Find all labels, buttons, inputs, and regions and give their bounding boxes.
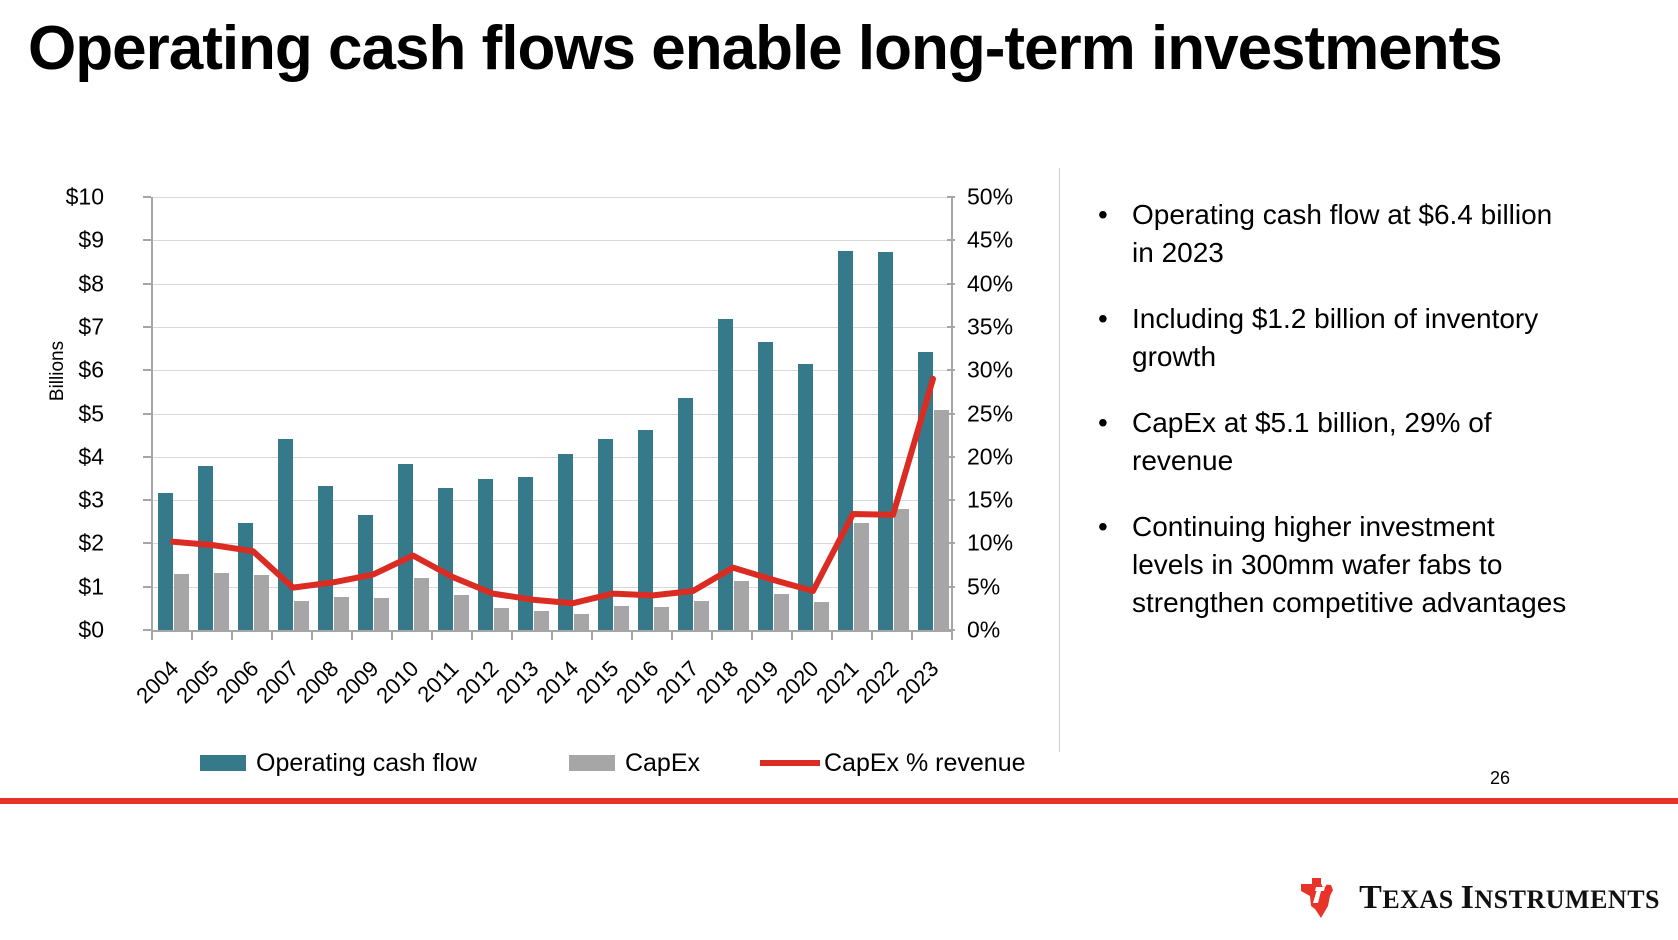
- bar-capex: [574, 614, 589, 630]
- x-axis-tick: [271, 632, 273, 640]
- list-item: •Operating cash flow at $6.4 billion in …: [1098, 196, 1568, 272]
- bar-capex: [334, 597, 349, 630]
- bullet-dot-icon: •: [1098, 508, 1132, 622]
- y-axis-label: $10: [66, 186, 104, 209]
- y-axis-tick: [143, 456, 151, 458]
- bar-operating-cash-flow: [438, 488, 453, 630]
- bar-capex: [534, 611, 549, 630]
- bar-capex: [254, 575, 269, 630]
- y2-axis-label: 10%: [967, 532, 1013, 555]
- bullet-text: Continuing higher investment levels in 3…: [1132, 508, 1568, 622]
- bullet-text: Operating cash flow at $6.4 billion in 2…: [1132, 196, 1568, 272]
- bar-capex: [894, 509, 909, 630]
- y2-axis-line: [951, 197, 953, 632]
- bar-operating-cash-flow: [798, 364, 813, 630]
- bar-capex: [454, 595, 469, 631]
- bar-capex: [854, 523, 869, 630]
- bullet-text: Including $1.2 billion of inventory grow…: [1132, 300, 1568, 376]
- ti-wordmark: TEXAS INSTRUMENTS: [1359, 879, 1660, 917]
- bar-capex: [654, 607, 669, 630]
- gridline: [153, 327, 953, 328]
- bar-capex: [614, 606, 629, 630]
- bar-capex: [814, 602, 829, 630]
- texas-state-icon: [1297, 876, 1343, 920]
- y-axis-label: $7: [78, 315, 104, 338]
- x-axis-tick: [591, 632, 593, 640]
- x-axis-tick: [311, 632, 313, 640]
- y2-axis-label: 20%: [967, 445, 1013, 468]
- y-axis-label: $8: [78, 272, 104, 295]
- bar-operating-cash-flow: [238, 523, 253, 630]
- bar-operating-cash-flow: [918, 352, 933, 630]
- y-axis-title: Billions: [47, 301, 69, 441]
- gridline: [153, 284, 953, 285]
- list-item: •Continuing higher investment levels in …: [1098, 508, 1568, 622]
- x-axis-tick: [351, 632, 353, 640]
- y-axis-tick: [143, 326, 151, 328]
- gridline: [153, 543, 953, 544]
- bar-operating-cash-flow: [678, 398, 693, 630]
- chart-plot-area: [151, 197, 953, 632]
- legend-swatch-capex-pct-revenue-icon: [760, 760, 820, 766]
- list-item: •Including $1.2 billion of inventory gro…: [1098, 300, 1568, 376]
- x-axis-tick: [951, 632, 953, 640]
- bullet-text: CapEx at $5.1 billion, 29% of revenue: [1132, 404, 1568, 480]
- y-axis-label: $1: [78, 575, 104, 598]
- bar-capex: [294, 601, 309, 630]
- x-axis-tick: [151, 632, 153, 640]
- legend-label: CapEx: [625, 749, 700, 778]
- x-axis-tick: [391, 632, 393, 640]
- chart-container: Billions $00%$15%$210%$315%$420%$525%$63…: [0, 160, 1060, 780]
- x-axis-tick: [911, 632, 913, 640]
- x-axis-tick: [751, 632, 753, 640]
- legend-item[interactable]: Operating cash flow: [200, 749, 477, 778]
- bar-capex: [934, 410, 949, 630]
- bar-capex: [214, 573, 229, 630]
- bullet-dot-icon: •: [1098, 404, 1132, 480]
- y-axis-label: $6: [78, 359, 104, 382]
- legend-item[interactable]: CapEx % revenue: [760, 749, 1026, 778]
- gridline: [153, 240, 953, 241]
- y-axis-label: $4: [78, 445, 104, 468]
- y2-axis-label: 30%: [967, 359, 1013, 382]
- list-item: •CapEx at $5.1 billion, 29% of revenue: [1098, 404, 1568, 480]
- bullet-dot-icon: •: [1098, 300, 1132, 376]
- gridline: [153, 370, 953, 371]
- y-axis-tick: [143, 542, 151, 544]
- x-axis-tick: [471, 632, 473, 640]
- y2-axis-label: 45%: [967, 229, 1013, 252]
- gridline: [153, 500, 953, 501]
- bar-operating-cash-flow: [878, 252, 893, 630]
- y-axis-tick: [143, 413, 151, 415]
- bar-operating-cash-flow: [758, 342, 773, 630]
- legend-item[interactable]: CapEx: [569, 749, 700, 778]
- y-axis-label: $3: [78, 489, 104, 512]
- y2-axis-label: 5%: [967, 575, 1000, 598]
- x-axis-tick: [551, 632, 553, 640]
- y2-axis-label: 15%: [967, 489, 1013, 512]
- y2-axis-label: 0%: [967, 619, 1000, 642]
- bullet-dot-icon: •: [1098, 196, 1132, 272]
- bar-operating-cash-flow: [278, 439, 293, 630]
- gridline: [153, 587, 953, 588]
- wordmark-part: T: [1359, 879, 1382, 916]
- bar-operating-cash-flow: [478, 479, 493, 630]
- bar-capex: [414, 578, 429, 630]
- bar-operating-cash-flow: [518, 477, 533, 630]
- legend-label: Operating cash flow: [256, 749, 477, 778]
- y2-axis-label: 25%: [967, 402, 1013, 425]
- x-axis-tick: [231, 632, 233, 640]
- bar-capex: [374, 598, 389, 630]
- bar-capex: [734, 581, 749, 630]
- bar-operating-cash-flow: [158, 493, 173, 630]
- y-axis-label: $2: [78, 532, 104, 555]
- gridline: [153, 197, 953, 198]
- x-axis-tick: [791, 632, 793, 640]
- x-axis-tick: [831, 632, 833, 640]
- bar-operating-cash-flow: [398, 464, 413, 630]
- y-axis-label: $5: [78, 402, 104, 425]
- y-axis-tick: [143, 239, 151, 241]
- page-number: 26: [1490, 768, 1510, 789]
- footer-rule: [0, 798, 1678, 804]
- x-axis-tick: [191, 632, 193, 640]
- y-axis-tick: [143, 283, 151, 285]
- y-axis-label: $0: [78, 619, 104, 642]
- x-axis-tick: [671, 632, 673, 640]
- gridline: [153, 414, 953, 415]
- legend-swatch-capex-icon: [569, 755, 615, 771]
- y-axis-tick: [143, 629, 151, 631]
- x-axis-tick: [711, 632, 713, 640]
- bar-operating-cash-flow: [358, 515, 373, 630]
- vertical-divider: [1059, 168, 1060, 752]
- bar-capex: [694, 601, 709, 630]
- bullet-list: •Operating cash flow at $6.4 billion in …: [1098, 196, 1568, 650]
- bar-capex: [774, 594, 789, 630]
- bar-operating-cash-flow: [638, 430, 653, 630]
- chart-legend: Operating cash flowCapExCapEx % revenue: [200, 745, 1026, 781]
- bar-capex: [174, 574, 189, 630]
- bar-operating-cash-flow: [558, 454, 573, 630]
- bar-operating-cash-flow: [318, 486, 333, 630]
- legend-swatch-operating-cash-flow-icon: [200, 755, 246, 771]
- y2-axis-label: 35%: [967, 315, 1013, 338]
- bar-capex: [494, 608, 509, 630]
- y-axis-tick: [143, 586, 151, 588]
- wordmark-part: I: [1461, 879, 1475, 916]
- page-title: Operating cash flows enable long-term in…: [28, 16, 1668, 81]
- x-axis-tick: [871, 632, 873, 640]
- y-axis-label: $9: [78, 229, 104, 252]
- gridline: [153, 457, 953, 458]
- bar-operating-cash-flow: [598, 439, 613, 630]
- x-axis-tick: [511, 632, 513, 640]
- bar-operating-cash-flow: [838, 251, 853, 630]
- wordmark-part: EXAS: [1382, 885, 1460, 914]
- x-axis-tick: [431, 632, 433, 640]
- y2-axis-label: 40%: [967, 272, 1013, 295]
- y-axis-tick: [143, 499, 151, 501]
- x-axis-tick: [631, 632, 633, 640]
- bar-operating-cash-flow: [718, 319, 733, 630]
- ti-logo: TEXAS INSTRUMENTS: [1297, 876, 1660, 920]
- y-axis-tick: [143, 196, 151, 198]
- legend-label: CapEx % revenue: [824, 749, 1026, 778]
- bar-operating-cash-flow: [198, 466, 213, 630]
- y-axis-tick: [143, 369, 151, 371]
- y2-axis-label: 50%: [967, 186, 1013, 209]
- wordmark-part: NSTRUMENTS: [1474, 885, 1660, 914]
